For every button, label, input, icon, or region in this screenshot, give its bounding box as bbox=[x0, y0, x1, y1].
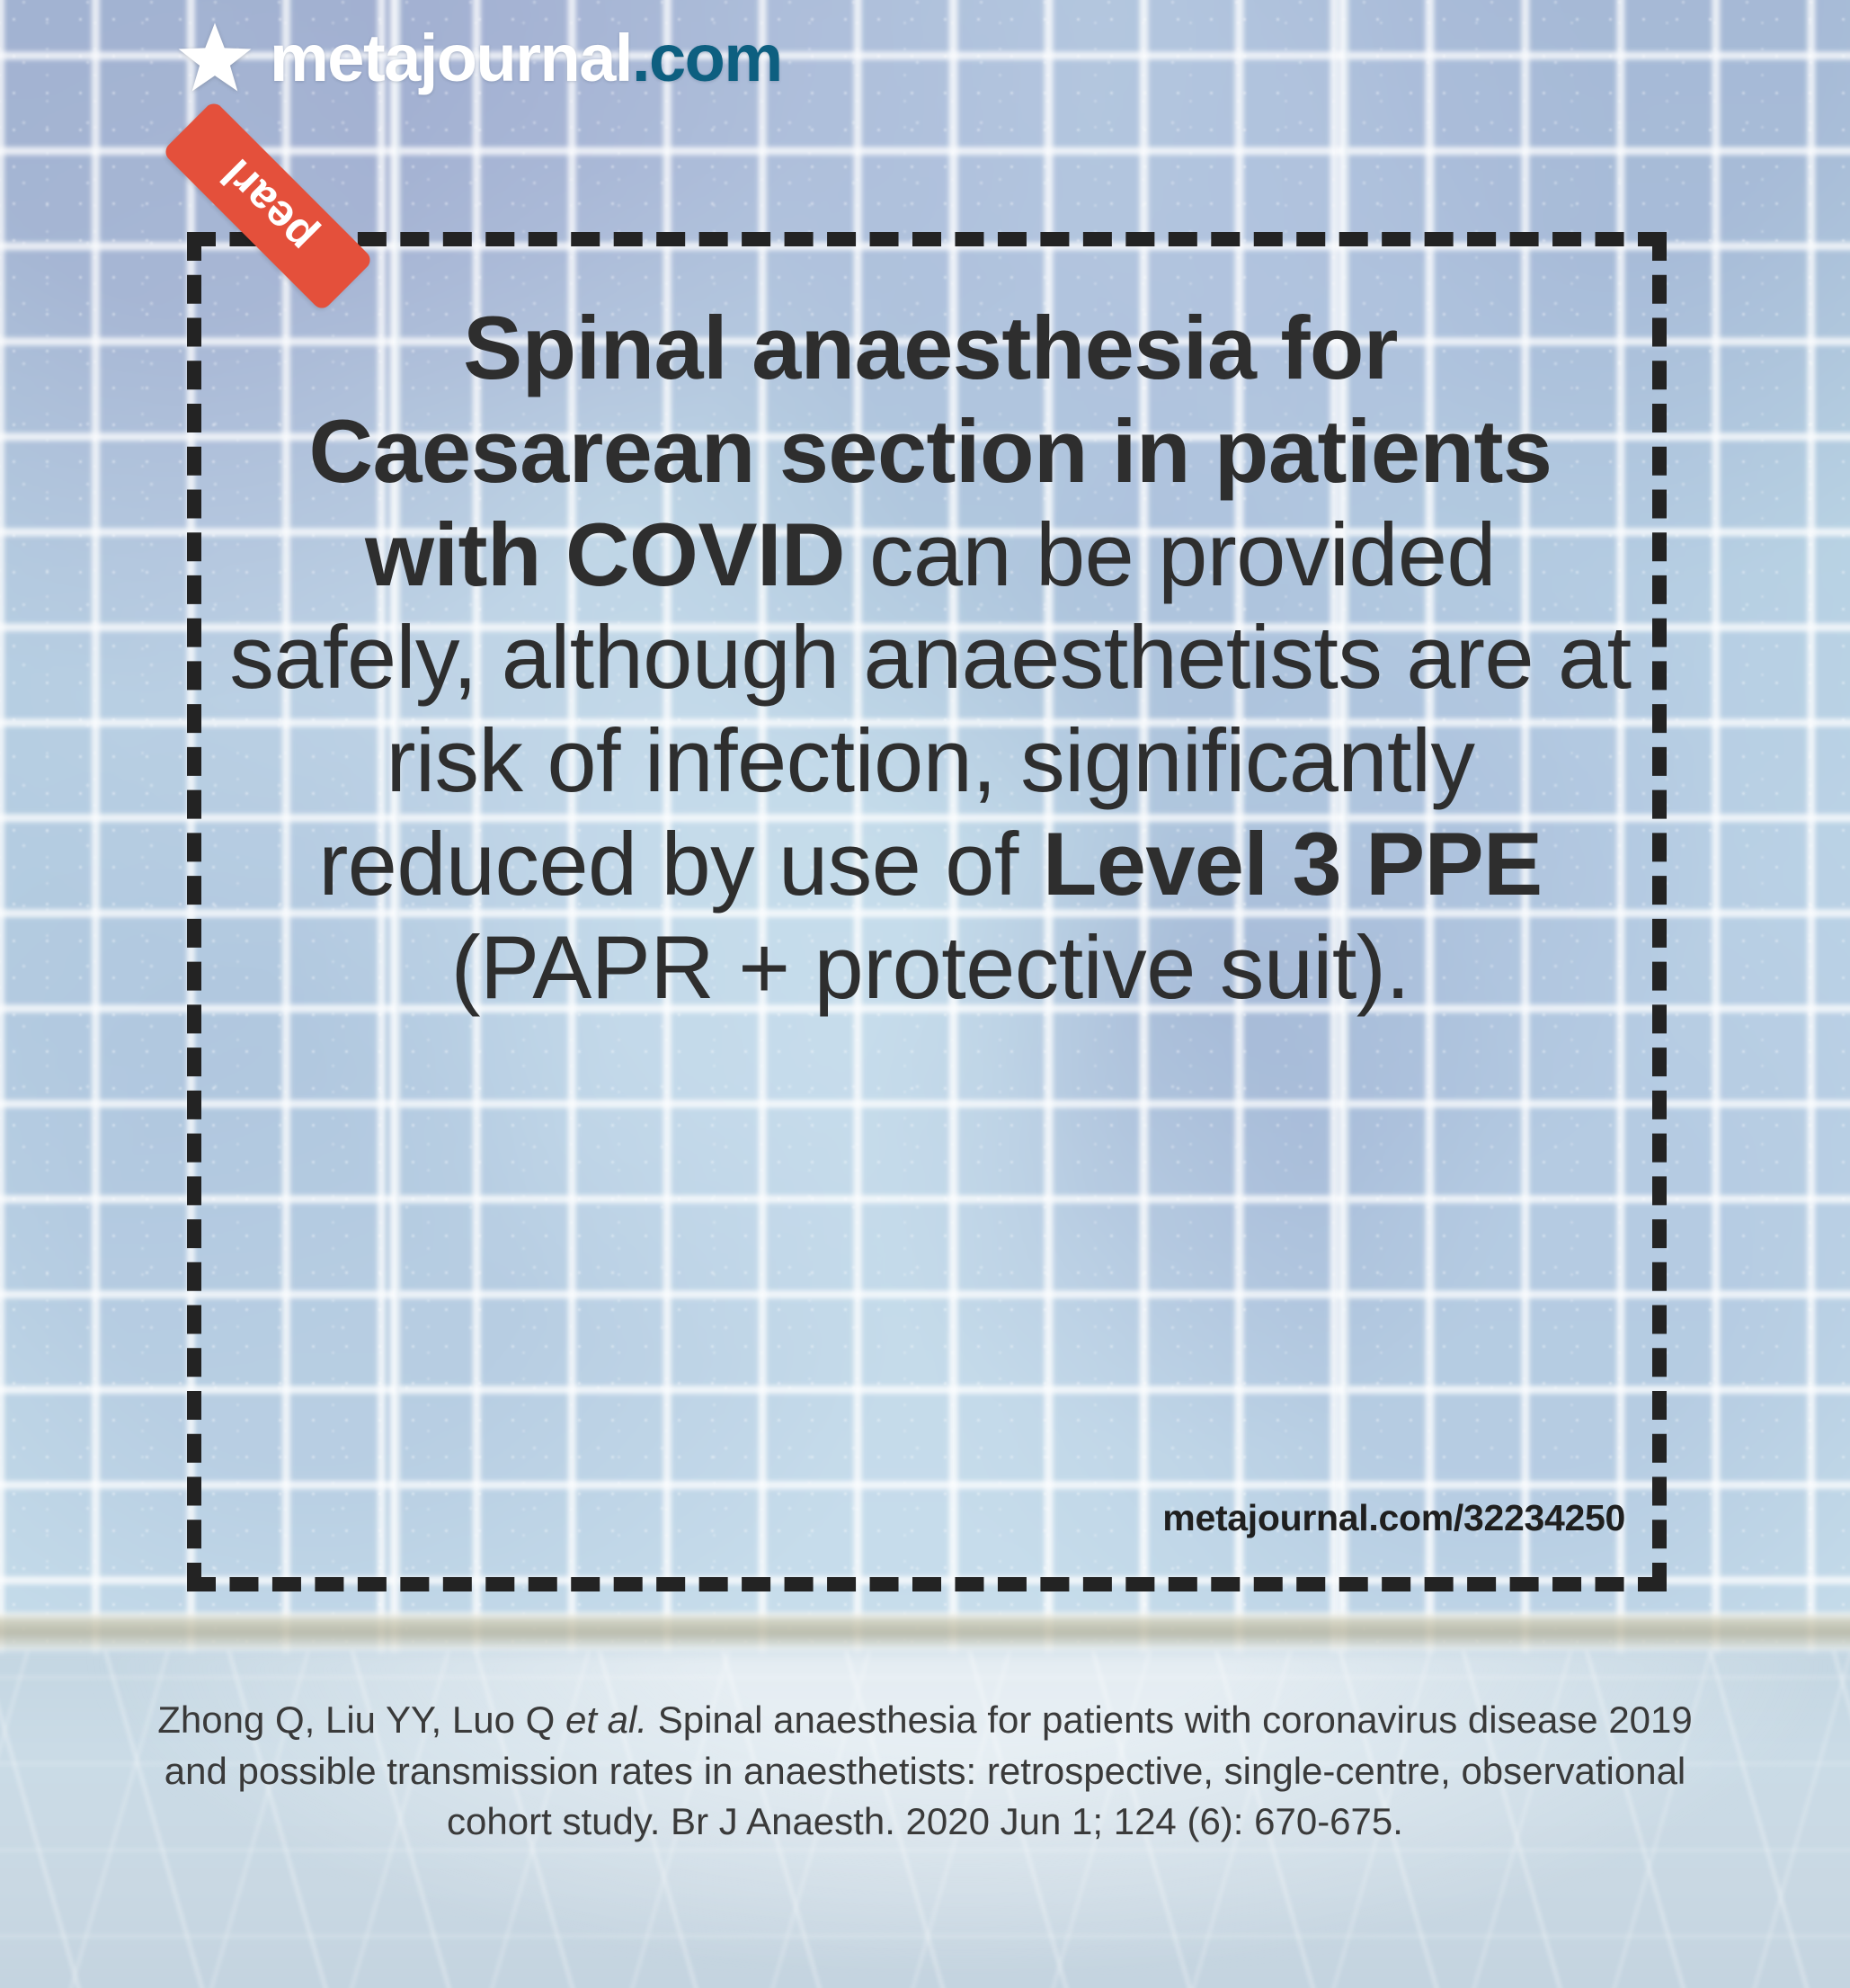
pearl-segment-regular-2: (PAPR + protective suit). bbox=[451, 917, 1410, 1017]
pearl-segment-bold-2: Level 3 PPE bbox=[1043, 814, 1543, 914]
wall-ledge bbox=[0, 1612, 1850, 1654]
site-logo[interactable]: metajournal.com bbox=[176, 20, 782, 97]
pearl-statement: Spinal anaesthesia for Caesarean section… bbox=[229, 297, 1632, 1020]
citation-authors: Zhong Q, Liu YY, Luo Q bbox=[157, 1698, 555, 1741]
logo-wordmark: metajournal.com bbox=[270, 25, 782, 92]
citation-et-al: et al. bbox=[565, 1698, 647, 1741]
logo-tld: .com bbox=[632, 21, 782, 95]
star-icon bbox=[176, 20, 253, 97]
pearl-permalink-text: metajournal.com/32234250 bbox=[1162, 1497, 1625, 1538]
logo-name: metajournal bbox=[270, 21, 632, 95]
pearl-permalink[interactable]: metajournal.com/32234250 bbox=[187, 1497, 1625, 1539]
source-citation: Zhong Q, Liu YY, Luo Q et al. Spinal ana… bbox=[126, 1695, 1724, 1848]
